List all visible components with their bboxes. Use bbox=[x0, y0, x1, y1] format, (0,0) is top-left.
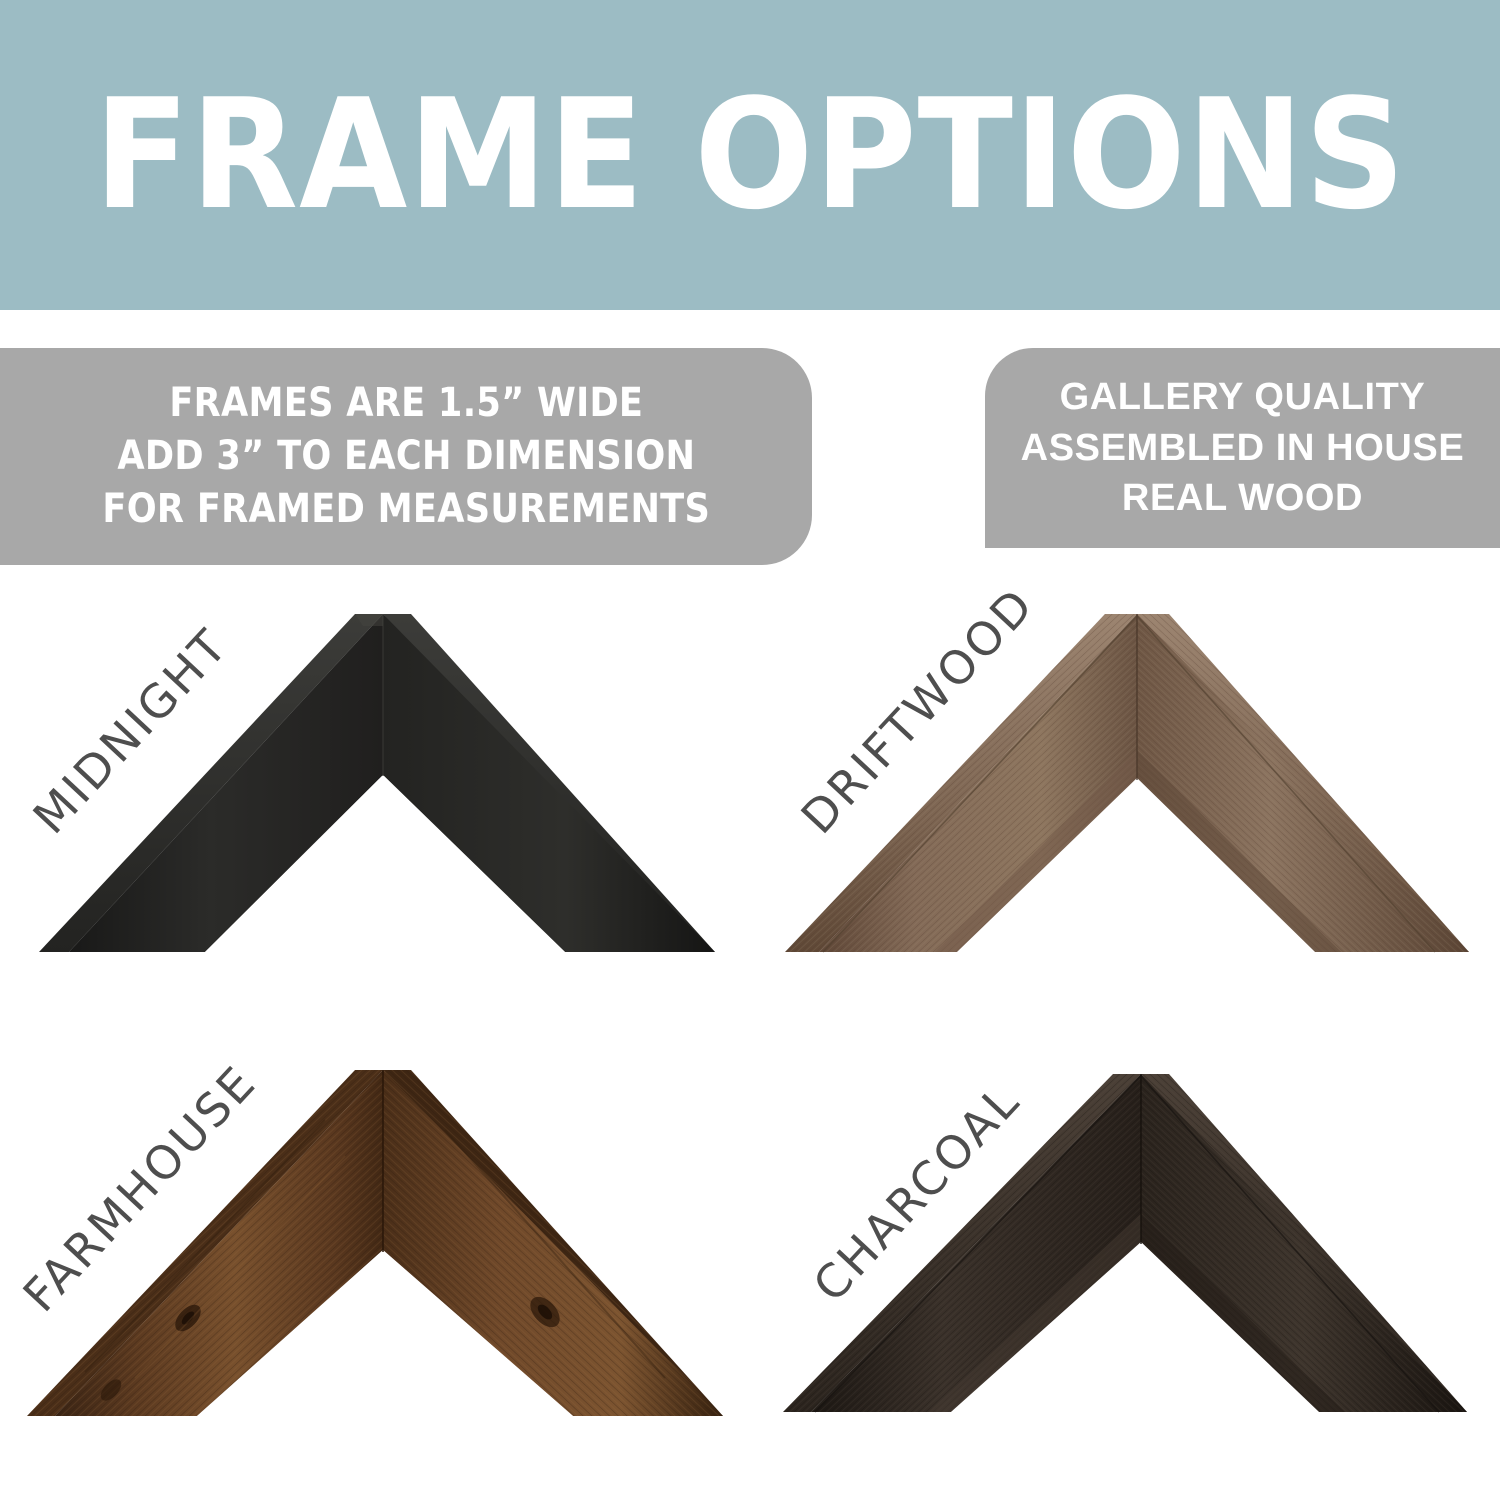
info-left-line-1: FRAMES ARE 1.5” WIDE bbox=[169, 377, 643, 430]
info-right-line-2: ASSEMBLED IN HOUSE bbox=[1021, 423, 1465, 474]
info-box-measurements: FRAMES ARE 1.5” WIDE ADD 3” TO EACH DIME… bbox=[0, 348, 812, 565]
info-right-line-1: GALLERY QUALITY bbox=[1060, 372, 1426, 423]
info-box-quality: GALLERY QUALITY ASSEMBLED IN HOUSE REAL … bbox=[985, 348, 1500, 548]
frame-corner-midnight bbox=[25, 600, 725, 985]
frame-sample-grid bbox=[0, 585, 1500, 1415]
info-left-line-2: ADD 3” TO EACH DIMENSION bbox=[117, 430, 695, 483]
info-right-line-3: REAL WOOD bbox=[1122, 473, 1363, 524]
frame-corner-driftwood bbox=[775, 600, 1475, 985]
frame-corner-svg-driftwood bbox=[775, 600, 1475, 985]
page-title: FRAME OPTIONS bbox=[94, 79, 1406, 231]
info-left-line-3: FOR FRAMED MEASUREMENTS bbox=[102, 483, 710, 536]
header-banner: FRAME OPTIONS bbox=[0, 0, 1500, 310]
frame-corner-farmhouse bbox=[25, 1060, 725, 1445]
frame-corner-svg-midnight bbox=[25, 600, 725, 985]
frame-corner-svg-farmhouse bbox=[25, 1060, 725, 1445]
